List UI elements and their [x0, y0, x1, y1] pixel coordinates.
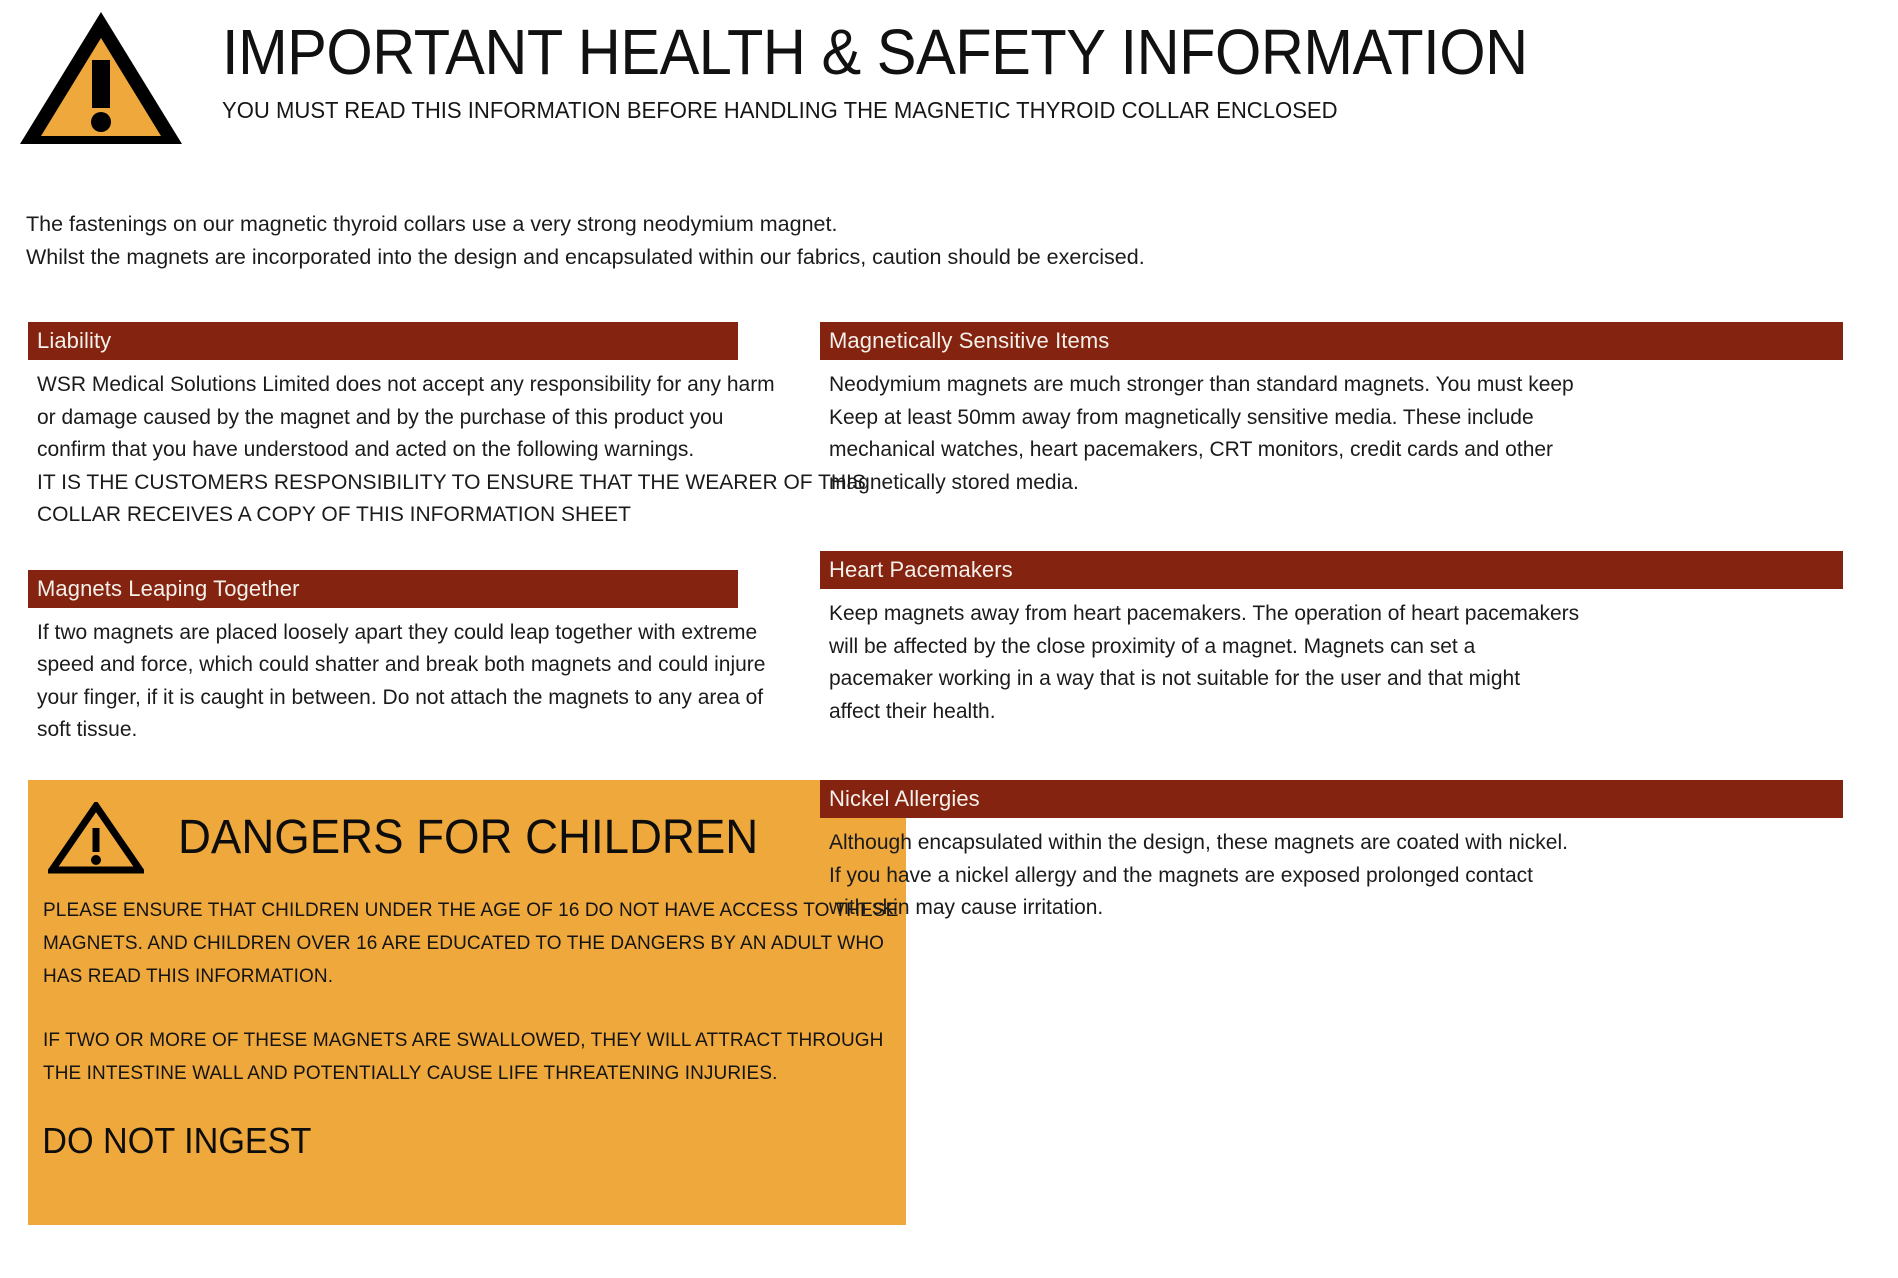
- dangers-for-children-box: DANGERS FOR CHILDREN PLEASE ENSURE THAT …: [28, 780, 906, 1225]
- spacer: [820, 728, 1843, 780]
- spacer: [820, 499, 1843, 551]
- body-line: WSR Medical Solutions Limited does not a…: [37, 369, 738, 402]
- section-nickel-allergies: Nickel Allergies Although encapsulated w…: [820, 780, 1843, 925]
- section-body-magnets-leaping: If two magnets are placed loosely apart …: [28, 608, 738, 747]
- body-line: COLLAR RECEIVES A COPY OF THIS INFORMATI…: [37, 499, 738, 532]
- body-line: or damage caused by the magnet and by th…: [37, 402, 738, 435]
- section-title: Magnets Leaping Together: [37, 578, 300, 600]
- document-header: IMPORTANT HEALTH & SAFETY INFORMATION YO…: [0, 0, 1898, 175]
- danger-box-header: DANGERS FOR CHILDREN: [28, 798, 906, 878]
- section-header-magnetically-sensitive-items: Magnetically Sensitive Items: [820, 322, 1843, 360]
- body-line: confirm that you have understood and act…: [37, 434, 738, 467]
- page-title: IMPORTANT HEALTH & SAFETY INFORMATION: [222, 16, 1528, 88]
- section-magnetically-sensitive-items: Magnetically Sensitive Items Neodymium m…: [820, 322, 1843, 499]
- section-body-magnetically-sensitive-items: Neodymium magnets are much stronger than…: [820, 360, 1843, 499]
- danger-line: PLEASE ENSURE THAT CHILDREN UNDER THE AG…: [43, 894, 906, 927]
- intro-line-2: Whilst the magnets are incorporated into…: [26, 241, 1526, 274]
- section-header-liability: Liability: [28, 322, 738, 360]
- body-line: Keep at least 50mm away from magneticall…: [829, 402, 1843, 435]
- body-line: speed and force, which could shatter and…: [37, 649, 738, 682]
- body-line: pacemaker working in a way that is not s…: [829, 663, 1843, 696]
- body-line: with skin may cause irritation.: [829, 892, 1843, 925]
- body-line: will be affected by the close proximity …: [829, 631, 1843, 664]
- section-header-heart-pacemakers: Heart Pacemakers: [820, 551, 1843, 589]
- right-column: Magnetically Sensitive Items Neodymium m…: [820, 322, 1843, 925]
- danger-line: IF TWO OR MORE OF THESE MAGNETS ARE SWAL…: [43, 1024, 906, 1057]
- intro-line-1: The fastenings on our magnetic thyroid c…: [26, 208, 1526, 241]
- danger-box-body: PLEASE ENSURE THAT CHILDREN UNDER THE AG…: [28, 878, 906, 1090]
- section-header-nickel-allergies: Nickel Allergies: [820, 780, 1843, 818]
- section-header-magnets-leaping: Magnets Leaping Together: [28, 570, 738, 608]
- warning-triangle-icon: [16, 8, 186, 148]
- section-title: Liability: [37, 330, 111, 352]
- body-line: magnetically stored media.: [829, 467, 1843, 500]
- section-title: Heart Pacemakers: [829, 559, 1013, 581]
- spacer: [43, 993, 906, 1024]
- body-line: Although encapsulated within the design,…: [829, 827, 1843, 860]
- body-line: affect their health.: [829, 696, 1843, 729]
- warning-triangle-outline-icon: [48, 802, 144, 874]
- danger-line: HAS READ THIS INFORMATION.: [43, 960, 906, 993]
- body-line: soft tissue.: [37, 714, 738, 747]
- page-subtitle: YOU MUST READ THIS INFORMATION BEFORE HA…: [222, 96, 1570, 124]
- danger-box-title: DANGERS FOR CHILDREN: [178, 811, 758, 865]
- body-line: your finger, if it is caught in between.…: [37, 682, 738, 715]
- body-line: Keep magnets away from heart pacemakers.…: [829, 598, 1843, 631]
- section-body-liability: WSR Medical Solutions Limited does not a…: [28, 360, 738, 532]
- section-magnets-leaping: Magnets Leaping Together If two magnets …: [28, 570, 738, 747]
- body-line: If two magnets are placed loosely apart …: [37, 617, 738, 650]
- danger-line: MAGNETS. AND CHILDREN OVER 16 ARE EDUCAT…: [43, 927, 906, 960]
- body-line: Neodymium magnets are much stronger than…: [829, 369, 1843, 402]
- left-column: Liability WSR Medical Solutions Limited …: [28, 322, 738, 1225]
- body-line: IT IS THE CUSTOMERS RESPONSIBILITY TO EN…: [37, 467, 738, 500]
- body-line: mechanical watches, heart pacemakers, CR…: [829, 434, 1843, 467]
- header-text-group: IMPORTANT HEALTH & SAFETY INFORMATION YO…: [222, 16, 1626, 124]
- section-liability: Liability WSR Medical Solutions Limited …: [28, 322, 738, 532]
- section-body-nickel-allergies: Although encapsulated within the design,…: [820, 818, 1843, 925]
- intro-paragraph: The fastenings on our magnetic thyroid c…: [26, 208, 1526, 274]
- section-body-heart-pacemakers: Keep magnets away from heart pacemakers.…: [820, 589, 1843, 728]
- spacer: [28, 747, 738, 780]
- do-not-ingest-warning: DO NOT INGEST: [28, 1090, 862, 1162]
- section-title: Magnetically Sensitive Items: [829, 330, 1109, 352]
- body-line: If you have a nickel allergy and the mag…: [829, 860, 1843, 893]
- spacer: [28, 532, 738, 570]
- section-title: Nickel Allergies: [829, 788, 980, 810]
- danger-line: THE INTESTINE WALL AND POTENTIALLY CAUSE…: [43, 1057, 906, 1090]
- section-heart-pacemakers: Heart Pacemakers Keep magnets away from …: [820, 551, 1843, 728]
